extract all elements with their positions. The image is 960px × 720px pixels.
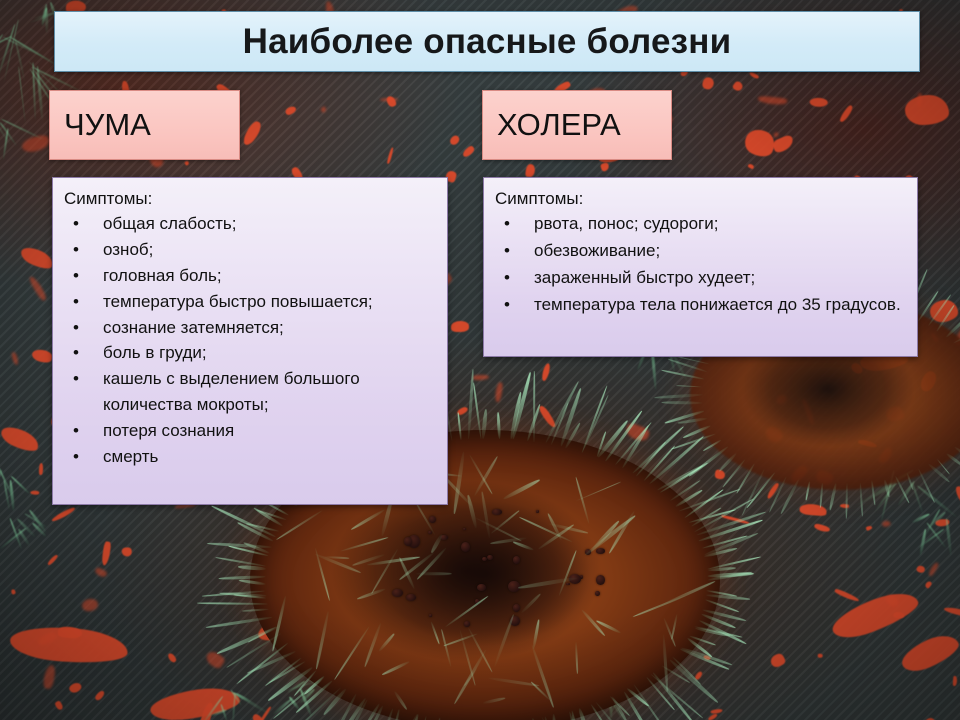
symptom-text: обезвоживание;: [534, 241, 660, 260]
symptom-text: головная боль;: [103, 266, 222, 285]
bullet-icon: •: [73, 237, 79, 263]
bullet-icon: •: [504, 211, 510, 238]
disease-name-box-plague: ЧУМА: [49, 90, 240, 160]
symptoms-list: •рвота, понос; судороги;•обезвоживание;•…: [492, 211, 907, 318]
symptom-item: •обезвоживание;: [492, 238, 907, 265]
symptom-text: температура тела понижается до 35 градус…: [534, 295, 901, 314]
symptoms-heading: Симптомы:: [64, 188, 437, 209]
symptom-text: смерть: [103, 447, 158, 466]
bullet-icon: •: [504, 265, 510, 292]
symptom-item: •зараженный быстро худеет;: [492, 265, 907, 292]
symptom-item: •кашель с выделением большого количества…: [61, 366, 437, 418]
bullet-icon: •: [73, 340, 79, 366]
symptom-item: •головная боль;: [61, 263, 437, 289]
symptom-item: • температура тела понижается до 35 град…: [492, 292, 907, 319]
symptom-text: озноб;: [103, 240, 153, 259]
symptoms-panel-plague: Симптомы: •общая слабость;•озноб;•головн…: [52, 177, 448, 505]
page-title: Наиболее опасные болезни: [243, 22, 732, 62]
bullet-icon: •: [73, 263, 79, 289]
symptom-item: •боль в груди;: [61, 340, 437, 366]
bullet-icon: •: [73, 315, 79, 341]
symptom-item: •сознание затемняется;: [61, 315, 437, 341]
symptom-text: рвота, понос; судороги;: [534, 214, 718, 233]
symptom-item: •температура быстро повышается;: [61, 289, 437, 315]
symptoms-panel-cholera: Симптомы: •рвота, понос; судороги;•обезв…: [483, 177, 918, 357]
bullet-icon: •: [73, 418, 79, 444]
symptom-item: •общая слабость;: [61, 211, 437, 237]
symptom-text: зараженный быстро худеет;: [534, 268, 755, 287]
disease-name-label: ХОЛЕРА: [483, 107, 621, 143]
symptom-item: •потеря сознания: [61, 418, 437, 444]
symptom-text: боль в груди;: [103, 343, 207, 362]
symptom-text: общая слабость;: [103, 214, 237, 233]
bullet-icon: •: [73, 366, 79, 392]
bullet-icon: •: [73, 211, 79, 237]
disease-name-label: ЧУМА: [50, 107, 151, 143]
symptom-text: потеря сознания: [103, 421, 234, 440]
slide-canvas: Наиболее опасные болезни ЧУМА ХОЛЕРА Сим…: [0, 0, 960, 720]
symptom-text: температура быстро повышается;: [103, 292, 373, 311]
symptoms-list: •общая слабость;•озноб;•головная боль;•т…: [61, 211, 437, 469]
disease-name-box-cholera: ХОЛЕРА: [482, 90, 672, 160]
bullet-icon: •: [73, 289, 79, 315]
bullet-icon: •: [504, 292, 510, 319]
symptom-item: •рвота, понос; судороги;: [492, 211, 907, 238]
symptom-item: •озноб;: [61, 237, 437, 263]
symptom-item: •смерть: [61, 444, 437, 470]
slide-title-banner: Наиболее опасные болезни: [54, 11, 920, 72]
bullet-icon: •: [504, 238, 510, 265]
symptom-text: кашель с выделением большого количества …: [103, 369, 360, 414]
symptom-text: сознание затемняется;: [103, 318, 284, 337]
bullet-icon: •: [73, 444, 79, 470]
symptoms-heading: Симптомы:: [495, 188, 907, 209]
